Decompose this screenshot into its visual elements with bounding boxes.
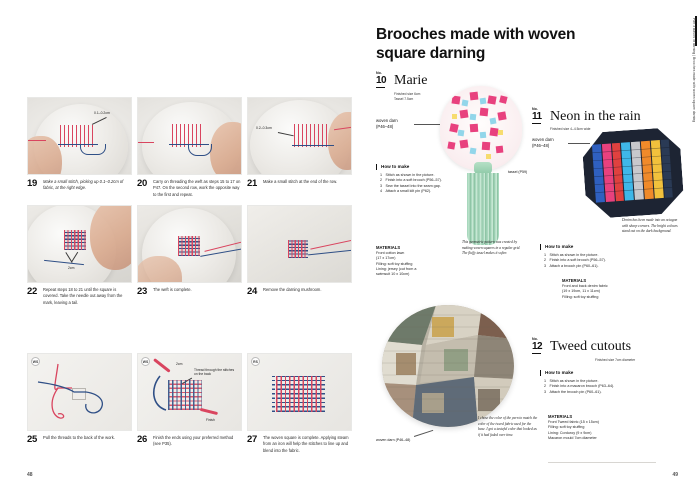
page-number-left: 48 xyxy=(27,472,33,478)
book-spread: 0.1–0.2cm 19 Make a small stitch, pickin… xyxy=(0,0,700,492)
project-number-10: No. 10 xyxy=(376,72,386,88)
step-caption-20: 20 Carry on threading the weft as steps … xyxy=(137,179,242,198)
step-row-1: 0.1–0.2cm 19 Make a small stitch, pickin… xyxy=(27,97,352,198)
step-number: 19 xyxy=(27,179,39,192)
step-photo-25: WS xyxy=(27,353,132,431)
left-page: 0.1–0.2cm 19 Make a small stitch, pickin… xyxy=(0,0,352,492)
step-cell-21: 0.2–0.3cm 21 Make a small stitch at the … xyxy=(247,97,352,198)
step-cell-20: 20 Carry on threading the weft as steps … xyxy=(137,97,242,198)
no-value: 10 xyxy=(376,76,386,87)
measure-label-22: 2cm xyxy=(68,266,74,270)
step-photo-19: 0.1–0.2cm xyxy=(27,97,132,175)
step-row-3: WS 25 Pull the threads to the back of th… xyxy=(27,353,352,454)
step-cell-27: RS 27 The woven square is complete. Appl… xyxy=(247,353,352,454)
rule xyxy=(532,353,541,354)
step-cell-24: 24 Remove the darning mushroom. xyxy=(247,205,352,306)
materials-line: swimsuit 10 x 10cm) xyxy=(376,272,452,277)
howto-item: 3Attach the brooch pin (P60–61). xyxy=(544,390,652,396)
project-subtitle-neon: Finished size 4–4.5cm wide xyxy=(550,127,591,132)
materials-neon: MATERIALS Front and back denim fabric (1… xyxy=(562,278,652,300)
project-note-marie: This geometric pattern was created by ma… xyxy=(462,240,524,257)
technique-ref-neon: woven darn (P46–48) xyxy=(532,137,554,149)
step-cell-26: WS 2cm Thread through the stitches on th… xyxy=(137,353,242,454)
howto-heading: How to make xyxy=(540,370,652,376)
step-description: The weft is complete. xyxy=(153,287,192,297)
step-number: 23 xyxy=(137,287,149,297)
howto-marie: How to make 1Stitch as shown in the pict… xyxy=(376,164,442,195)
step-description: The woven square is complete. Applying s… xyxy=(263,435,352,454)
technique-ref-tweed: woven darn (P46–48) xyxy=(376,438,410,443)
project-title-tweed: Tweed cutouts xyxy=(550,340,631,354)
howto-neon: How to make 1Stitch as shown in the pict… xyxy=(540,244,626,269)
step-description: Pull the threads to the back of the work… xyxy=(43,435,115,445)
project-number-11: No. 11 xyxy=(532,108,542,124)
step-description: Repeat steps 18 to 21 until the square i… xyxy=(43,287,132,306)
project-subtitle-tweed: Finished size 7cm diameter xyxy=(595,358,635,363)
step-number: 27 xyxy=(247,435,259,454)
step-caption-23: 23 The weft is complete. xyxy=(137,287,242,297)
step-photo-21: 0.2–0.3cm xyxy=(247,97,352,175)
brooch-image-tweed xyxy=(382,305,514,427)
step-photo-24 xyxy=(247,205,352,283)
howto-tweed: How to make 1Stitch as shown in the pict… xyxy=(540,370,652,395)
step-description: Finish the ends using your preferred met… xyxy=(153,435,242,448)
step-caption-19: 19 Make a small stitch, picking up 0.1–0… xyxy=(27,179,132,192)
step-caption-26: 26 Finish the ends using your preferred … xyxy=(137,435,242,448)
step-cell-25: WS 25 Pull the threads to the back of th… xyxy=(27,353,132,454)
step-photo-26: WS 2cm Thread through the stitches on th… xyxy=(137,353,242,431)
materials-line: Filling: soft toy stuffing xyxy=(562,295,652,300)
step-caption-25: 25 Pull the threads to the back of the w… xyxy=(27,435,132,445)
step-number: 25 xyxy=(27,435,39,445)
step-row-2: 2cm 22 Repeat steps 18 to 21 until the s… xyxy=(27,205,352,306)
step-description: Carry on threading the weft as steps 15 … xyxy=(153,179,242,198)
materials-tweed: MATERIALS Front Tweed fabric (15 x 15cm)… xyxy=(548,414,656,441)
step-photo-22: 2cm xyxy=(27,205,132,283)
howto-item: 4Attach a small kilt pin (P62). xyxy=(380,189,442,195)
step-cell-19: 0.1–0.2cm 19 Make a small stitch, pickin… xyxy=(27,97,132,198)
step-caption-27: 27 The woven square is complete. Applyin… xyxy=(247,435,352,454)
project-note-tweed: I chose the color of the yarn to match t… xyxy=(478,416,538,438)
measure-label-21: 0.2–0.3cm xyxy=(256,126,272,130)
divider xyxy=(548,462,656,463)
step-number: 24 xyxy=(247,287,259,297)
page-number-right: 49 xyxy=(672,472,678,478)
tassel-image xyxy=(462,162,504,250)
rule xyxy=(376,87,385,88)
step-photo-27: RS xyxy=(247,353,352,431)
project-number-12: No. 12 xyxy=(532,338,542,354)
project-title-neon: Neon in the rain xyxy=(550,110,641,124)
measure-label-19: 0.1–0.2cm xyxy=(94,111,110,115)
step-cell-23: 23 The weft is complete. xyxy=(137,205,242,306)
step-photo-20 xyxy=(137,97,242,175)
project-note-neon: Denim has been made into an octagon with… xyxy=(622,218,682,235)
step-caption-22: 22 Repeat steps 18 to 21 until the squar… xyxy=(27,287,132,306)
step-photo-23 xyxy=(137,205,242,283)
materials-line: Macaron mould 7cm diameter xyxy=(548,436,656,441)
brooch-image-neon xyxy=(581,127,685,220)
step-number: 20 xyxy=(137,179,149,198)
step-cell-22: 2cm 22 Repeat steps 18 to 21 until the s… xyxy=(27,205,132,306)
howto-heading: How to make xyxy=(376,164,442,170)
tassel-ref-label: tassel (P59) xyxy=(508,170,527,175)
step-number: 26 xyxy=(137,435,149,448)
no-value: 11 xyxy=(532,112,542,123)
no-value: 12 xyxy=(532,342,542,353)
materials-marie: MATERIALS Front cotton lawn (17 x 17cm) … xyxy=(376,245,452,278)
project-subtitle-marie: Finished size 6cm Tassel 7.5cm xyxy=(394,92,420,102)
page-title: Brooches made with woven square darning xyxy=(376,26,626,64)
step-description: Remove the darning mushroom. xyxy=(263,287,321,297)
step-caption-21: 21 Make a small stitch at the end of the… xyxy=(247,179,352,189)
rule xyxy=(532,123,541,124)
howto-heading: How to make xyxy=(540,244,626,250)
side-indicator-rs: RS xyxy=(251,357,260,366)
project-title-marie: Marie xyxy=(394,74,427,88)
brooch-image-marie xyxy=(440,86,522,170)
howto-item: 3Attach a brooch pin (P60–61). xyxy=(544,264,626,270)
step-description: Make a small stitch, picking up 0.1–0.2c… xyxy=(43,179,132,192)
side-tab-label: Part 3 Basics of darning | Brooches made… xyxy=(686,18,696,208)
step-caption-24: 24 Remove the darning mushroom. xyxy=(247,287,352,297)
step-number: 21 xyxy=(247,179,259,189)
step-description: Make a small stitch at the end of the ro… xyxy=(263,179,337,189)
step-number: 22 xyxy=(27,287,39,306)
technique-ref-marie: woven darn (P46–48) xyxy=(376,118,398,130)
right-page: Brooches made with woven square darning … xyxy=(352,0,700,492)
